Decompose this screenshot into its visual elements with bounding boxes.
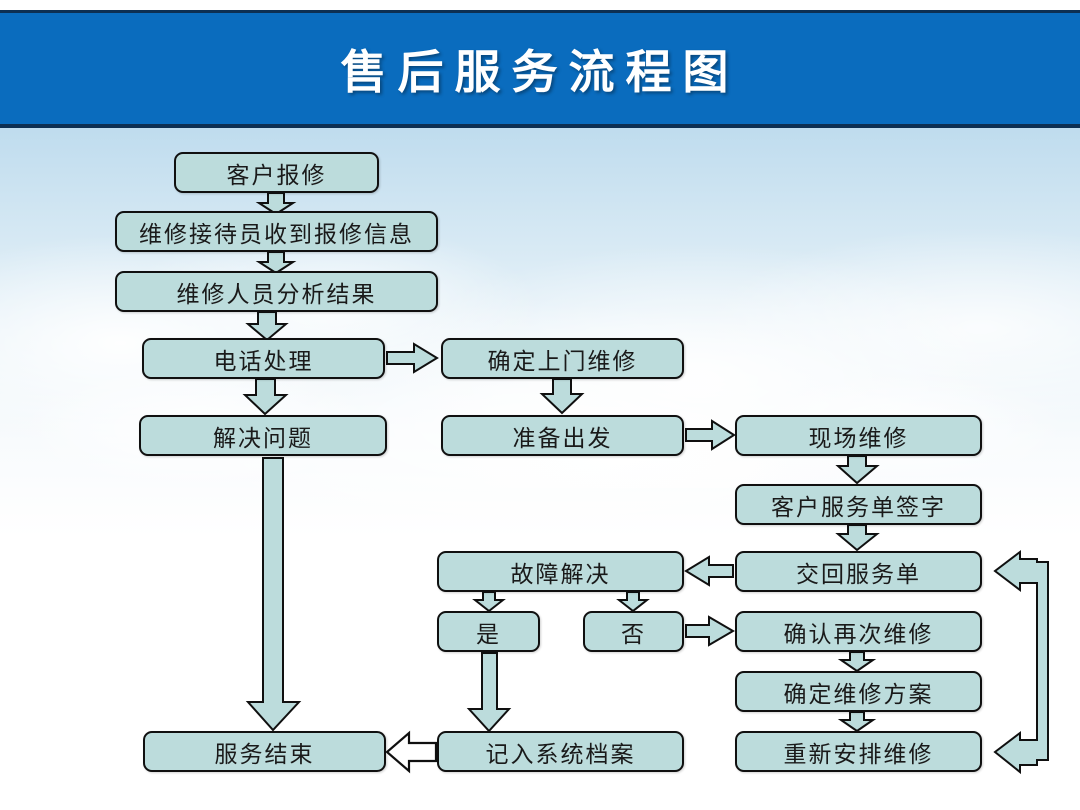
node-label: 维修接待员收到报修信息 (139, 215, 414, 249)
node-problem-solved[interactable]: 解决问题 (139, 415, 387, 456)
node-reschedule-repair[interactable]: 重新安排维修 (735, 731, 982, 772)
node-record-into-system[interactable]: 记入系统档案 (437, 731, 684, 772)
node-confirm-rerepair[interactable]: 确认再次维修 (735, 611, 982, 652)
node-label: 准备出发 (513, 419, 613, 453)
arrow-down-n2-n3 (259, 252, 293, 273)
node-label: 确定上门维修 (488, 342, 638, 376)
node-label: 确定维修方案 (784, 675, 934, 709)
node-prepare-departure[interactable]: 准备出发 (441, 415, 684, 456)
node-label: 客户报修 (227, 156, 327, 190)
node-label: 维修人员分析结果 (177, 275, 377, 309)
node-determine-repair-plan[interactable]: 确定维修方案 (735, 671, 982, 712)
node-label: 现场维修 (809, 419, 909, 453)
arrow-right-n13-n14 (686, 617, 733, 645)
node-fault-resolved[interactable]: 故障解决 (437, 551, 684, 592)
arrow-down-n14-n15 (841, 652, 873, 671)
node-label: 客户服务单签字 (771, 488, 946, 522)
node-label: 交回服务单 (796, 555, 921, 589)
node-label: 故障解决 (511, 555, 611, 589)
arrow-loop-right-n16-n10 (995, 552, 1048, 772)
node-return-service-order[interactable]: 交回服务单 (735, 551, 982, 592)
node-label: 记入系统档案 (486, 735, 636, 769)
arrow-down-n5-n7 (542, 379, 582, 413)
arrow-down-n3-n4 (248, 312, 286, 340)
arrow-down-n15-n16 (841, 712, 873, 731)
node-label: 服务结束 (215, 735, 315, 769)
node-label: 重新安排维修 (784, 735, 934, 769)
arrow-down-n12-n17 (469, 653, 509, 731)
node-customer-report[interactable]: 客户报修 (174, 152, 379, 193)
node-service-end[interactable]: 服务结束 (143, 731, 386, 772)
node-onsite-repair[interactable]: 现场维修 (735, 415, 982, 456)
node-customer-signature[interactable]: 客户服务单签字 (735, 484, 982, 525)
node-label: 解决问题 (213, 419, 313, 453)
arrow-down-n11-n12 (475, 592, 503, 611)
arrow-right-n7-n8 (686, 421, 734, 449)
arrow-down-n11-n13 (619, 592, 647, 611)
node-phone-handling[interactable]: 电话处理 (142, 338, 385, 379)
arrow-down-n4-n6 (245, 379, 286, 414)
node-technician-analysis[interactable]: 维修人员分析结果 (115, 271, 438, 312)
node-receptionist-received[interactable]: 维修接待员收到报修信息 (115, 211, 438, 252)
node-label: 确认再次维修 (784, 615, 934, 649)
arrow-down-n6-n18 (248, 458, 299, 730)
arrow-left-n10-n11 (686, 557, 733, 585)
node-yes[interactable]: 是 (437, 611, 540, 652)
flowchart-canvas: 售后服务流程图 (0, 0, 1080, 810)
arrow-down-n9-n10 (838, 525, 877, 550)
node-no[interactable]: 否 (583, 611, 684, 652)
arrow-down-n8-n9 (838, 456, 877, 483)
node-label: 电话处理 (214, 342, 314, 376)
arrow-right-n4-n5 (387, 344, 437, 372)
node-label: 是 (476, 615, 501, 649)
node-confirm-onsite-repair[interactable]: 确定上门维修 (441, 338, 684, 379)
arrow-left-n17-n18 (387, 733, 436, 771)
node-label: 否 (621, 615, 646, 649)
